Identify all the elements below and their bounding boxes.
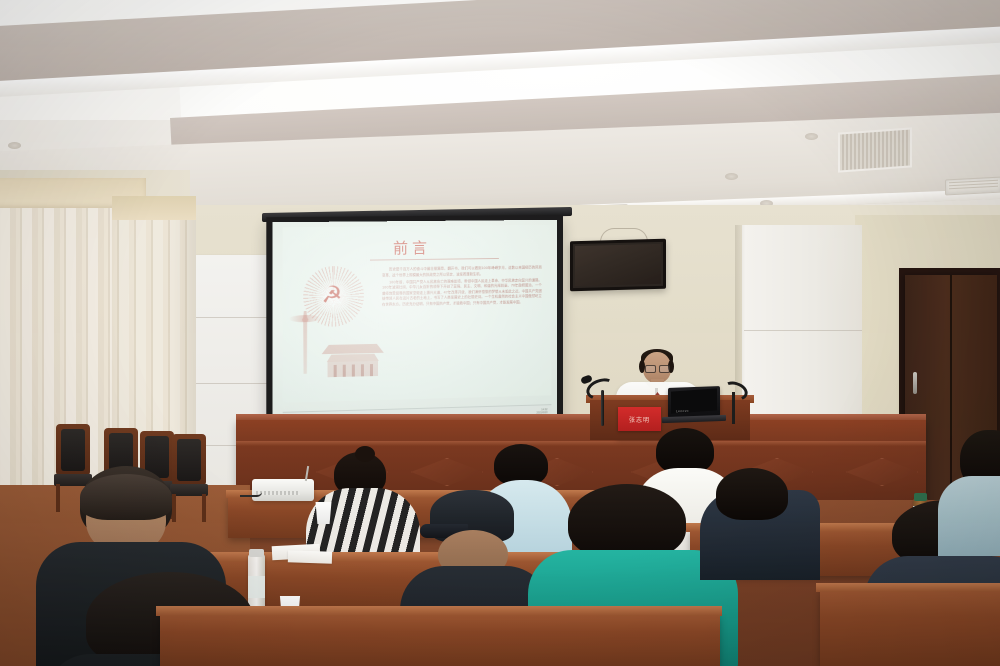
bottle-cap[interactable] <box>914 493 927 501</box>
slide-paragraph: 100年前，中国共产党人从民族危亡的艰难处境，带领中国人民走上革命、中华民族走向… <box>382 278 542 308</box>
attendee-hair-bun <box>355 446 375 462</box>
downlight-icon <box>8 142 21 149</box>
microphone-stand <box>601 390 604 426</box>
podium-trim-rail <box>236 441 926 446</box>
slide-title: 前言 <box>272 236 547 260</box>
wall-mounted-monitor <box>570 239 666 292</box>
attendee-hair <box>568 484 686 560</box>
slide-paragraph: 历史是千百万人的奋斗中最壮丽篇章。翻开书，我们可以看到100年峥嵘岁月，这数以来… <box>382 265 542 278</box>
ac-vent-icon <box>945 177 1000 196</box>
microphone-stand <box>732 392 735 424</box>
laptop-brand-label: Lenovo <box>676 409 689 413</box>
curtain-header-second <box>112 196 196 220</box>
attendee-hair-top <box>80 474 172 520</box>
downlight-icon <box>725 173 738 180</box>
audience-desk-right-top <box>816 583 1000 592</box>
audience-desk-right <box>820 590 1000 666</box>
projector-cable <box>240 492 262 497</box>
ac-vent-icon <box>838 127 912 172</box>
downlight-icon <box>805 133 818 140</box>
slide-body-text: 历史是千百万人的奋斗中最壮丽篇章。翻开书，我们可以看到100年峥嵘岁月，这数以来… <box>382 265 542 309</box>
projection-screen[interactable]: ☭ 前言 历史是千百万人的奋斗中最壮丽篇章。翻开书，我们可以看到100年峥嵘岁月… <box>272 220 557 426</box>
printed-document[interactable] <box>288 550 332 564</box>
attendee-right-head <box>716 468 788 520</box>
attendee-far-right-torso <box>938 476 1000 556</box>
conference-room-photo: ☭ 前言 历史是千百万人的奋斗中最壮丽篇章。翻开书，我们可以看到100年峥嵘岁月… <box>0 0 1000 666</box>
bottle-cap[interactable] <box>249 549 264 557</box>
bottle-label <box>248 576 265 598</box>
speaker-nameplate: 张志明 <box>618 407 661 431</box>
portable-projector[interactable] <box>252 479 314 501</box>
tiananmen-gate-icon <box>317 342 388 378</box>
presentation-slide: ☭ 前言 历史是千百万人的奋斗中最壮丽篇章。翻开书，我们可以看到100年峥嵘岁月… <box>272 220 557 426</box>
speaker-glasses-icon <box>645 365 669 372</box>
audience-desk-row1-top <box>156 606 722 616</box>
audience-desk-row1 <box>160 614 720 666</box>
door-handle-icon[interactable] <box>913 372 917 394</box>
nameplate-text: 张志明 <box>629 415 650 424</box>
